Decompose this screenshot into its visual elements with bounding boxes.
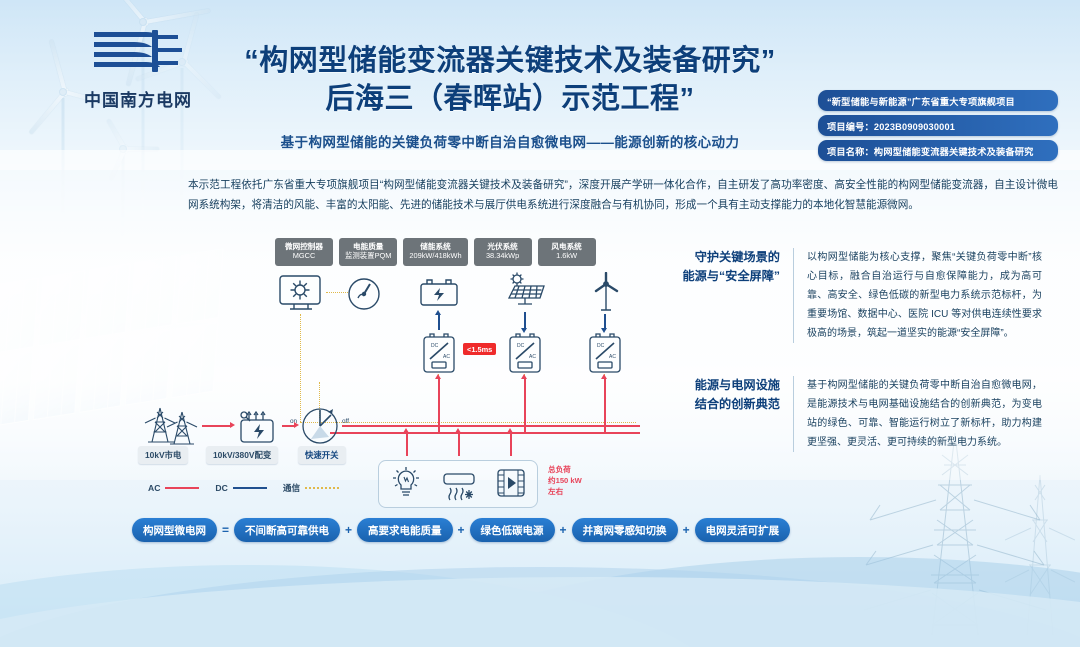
poster-title: “构网型储能变流器关键技术及装备研究” 后海三（春晖站）示范工程” 基于构网型储… xyxy=(190,42,830,151)
system-diagram: 微网控制器 MGCC 电能质量 监测装置PQM 储能系统 209kW/418kW… xyxy=(130,232,650,512)
ac-arrow-display xyxy=(507,428,513,433)
formula-equals: = xyxy=(222,523,229,537)
dc-link-storage xyxy=(438,314,440,330)
legend-item-ac: AC xyxy=(148,483,199,493)
legend-label-comm: 通信 xyxy=(283,482,300,494)
diagram-tab-wind: 风电系统 1.6kW xyxy=(538,238,596,266)
svg-text:DC: DC xyxy=(597,343,605,349)
formula-plus-4: + xyxy=(683,523,690,537)
highlight-block-safety: 守护关键场景的 能源与“安全屏障” 以构网型储能为核心支撑，聚焦“关键负荷零中断… xyxy=(662,248,1042,343)
comm-link-mgcc-pqm xyxy=(326,292,348,293)
lighting-load-icon xyxy=(388,466,424,502)
svg-text:AC: AC xyxy=(609,354,616,360)
highlight-heading-innovation: 能源与电网设施 结合的创新典范 xyxy=(662,376,794,452)
ac-riser-storage xyxy=(438,378,440,432)
battery-storage-icon xyxy=(418,276,460,308)
tab-title: 光伏系统 xyxy=(480,242,526,251)
background-wave xyxy=(0,565,734,647)
heading-line-2: 结合的创新典范 xyxy=(695,397,780,411)
tab-title: 风电系统 xyxy=(544,242,590,251)
grid-label: 10kV市电 xyxy=(138,446,188,464)
formula-term-1[interactable]: 不间断高可靠供电 xyxy=(234,518,340,542)
ac-arrow-wind xyxy=(601,374,607,379)
project-program-label: “新型储能与新能源”广东省重大专项旗舰项目 xyxy=(818,90,1058,111)
background-transmission-pylon-small xyxy=(1005,470,1075,640)
microgrid-controller-icon xyxy=(278,274,326,314)
air-conditioner-load-icon xyxy=(440,468,478,502)
transmission-tower-icon xyxy=(144,404,200,446)
solar-panel-icon xyxy=(504,272,548,308)
title-line-2: 后海三（春晖站）示范工程” xyxy=(190,80,830,118)
ac-arrow-lighting xyxy=(403,428,409,433)
formula-term-5[interactable]: 电网灵活可扩展 xyxy=(695,518,791,542)
poster-subtitle: 基于构网型储能的关键负荷零中断自治自愈微电网——能源创新的核心动力 xyxy=(190,131,830,151)
dc-ac-converter-icon: DC AC xyxy=(588,332,622,374)
legend-item-dc: DC xyxy=(215,483,266,493)
diagram-tab-pqm: 电能质量 监测装置PQM xyxy=(339,238,397,266)
load-note-line3: 左右 xyxy=(548,487,563,496)
wind-turbine-icon xyxy=(588,272,624,312)
legend-item-comm: 通信 xyxy=(283,482,339,494)
ac-arrow-pv xyxy=(521,374,527,379)
dc-arrow-pv xyxy=(521,328,527,333)
ac-arrow-1 xyxy=(230,422,235,428)
svg-text:AC: AC xyxy=(443,354,450,360)
diagram-tab-mgcc: 微网控制器 MGCC xyxy=(275,238,333,266)
diagram-legend: AC DC 通信 xyxy=(148,482,348,494)
highlight-body-innovation: 基于构网型储能的关键负荷零中断自治自愈微电网，是能源技术与电网基础设施结合的创新… xyxy=(794,376,1042,452)
ac-riser-pv xyxy=(524,378,526,432)
transformer-icon xyxy=(236,406,282,446)
svg-text:DC: DC xyxy=(431,343,439,349)
switching-time-badge: <1.5ms xyxy=(463,343,496,355)
heading-line-1: 能源与电网设施 xyxy=(695,378,780,392)
legend-swatch-comm xyxy=(305,487,339,489)
project-info-box: “新型储能与新能源”广东省重大专项旗舰项目 项目编号：2023B09090300… xyxy=(818,90,1058,165)
tab-value: 监测装置PQM xyxy=(345,251,391,260)
legend-swatch-ac xyxy=(165,487,199,490)
tab-title: 储能系统 xyxy=(409,242,461,251)
highlight-block-innovation: 能源与电网设施 结合的创新典范 基于构网型储能的关键负荷零中断自治自愈微电网，是… xyxy=(662,376,1042,452)
diagram-tab-storage: 储能系统 209kW/418kWh xyxy=(403,238,467,266)
heading-line-1: 守护关键场景的 xyxy=(695,250,780,264)
tab-title: 微网控制器 xyxy=(281,242,327,251)
csg-logo-icon xyxy=(92,28,184,74)
legend-swatch-dc xyxy=(233,487,267,490)
tab-value: 38.34kWp xyxy=(480,251,526,260)
ac-arrow-2 xyxy=(294,422,299,428)
formula-plus-1: + xyxy=(345,523,352,537)
diagram-tab-row: 微网控制器 MGCC 电能质量 监测装置PQM 储能系统 209kW/418kW… xyxy=(275,238,596,266)
display-load-icon xyxy=(494,466,528,500)
diagram-tab-pv: 光伏系统 38.34kWp xyxy=(474,238,532,266)
svg-text:AC: AC xyxy=(529,354,536,360)
fast-switch-icon xyxy=(298,404,342,448)
legend-label-ac: AC xyxy=(148,483,160,493)
poster-canvas: 中国南方电网 “构网型储能变流器关键技术及装备研究” 后海三（春晖站）示范工程”… xyxy=(0,0,1080,647)
switch-off-label: off xyxy=(342,418,349,425)
formula-plus-2: + xyxy=(458,523,465,537)
title-line-1: “构网型储能变流器关键技术及装备研究” xyxy=(190,42,830,80)
ac-drop-hvac xyxy=(458,432,460,456)
ac-drop-display xyxy=(510,432,512,456)
dc-ac-converter-icon: DC AC xyxy=(422,332,456,374)
formula-term-3[interactable]: 绿色低碳电源 xyxy=(470,518,555,542)
legend-label-dc: DC xyxy=(215,483,227,493)
ac-line-grid-transformer xyxy=(202,425,232,427)
project-number-label: 项目编号：2023B0909030001 xyxy=(818,115,1058,136)
project-name-label: 项目名称：构网型储能变流器关键技术及装备研究 xyxy=(818,140,1058,161)
ac-line-switch-bus xyxy=(342,425,640,427)
dc-ac-converter-icon: DC AC xyxy=(508,332,542,374)
formula-plus-3: + xyxy=(560,523,567,537)
svg-text:DC: DC xyxy=(517,343,525,349)
tab-value: 1.6kW xyxy=(544,251,590,260)
intro-paragraph: 本示范工程依托广东省重大专项旗舰项目“构网型储能变流器关键技术及装备研究”，深度… xyxy=(188,176,1058,215)
total-load-note: 总负荷 约150 kW 左右 xyxy=(548,464,582,497)
heading-line-2: 能源与“安全屏障” xyxy=(683,269,781,283)
ac-bus xyxy=(330,432,640,434)
formula-result-pill[interactable]: 构网型微电网 xyxy=(132,518,217,542)
value-formula-bar: 构网型微电网 = 不间断高可靠供电 + 高要求电能质量 + 绿色低碳电源 + 并… xyxy=(132,518,822,542)
ac-arrow-hvac xyxy=(455,428,461,433)
load-note-line2: 约150 kW xyxy=(548,476,582,485)
transformer-label: 10kV/380V配变 xyxy=(206,446,278,464)
dc-arrow-wind xyxy=(601,328,607,333)
highlight-body-safety: 以构网型储能为核心支撑，聚焦“关键负荷零中断”核心目标，融合自治运行与自愈保障能… xyxy=(794,248,1042,343)
dc-arrow-storage xyxy=(435,310,441,315)
tab-value: 209kW/418kWh xyxy=(409,251,461,260)
highlight-heading-safety: 守护关键场景的 能源与“安全屏障” xyxy=(662,248,794,343)
load-note-line1: 总负荷 xyxy=(548,465,571,474)
ac-riser-wind xyxy=(604,378,606,432)
ac-arrow-storage xyxy=(435,374,441,379)
formula-term-4[interactable]: 并离网零感知切换 xyxy=(572,518,678,542)
tab-title: 电能质量 xyxy=(345,242,391,251)
ac-drop-lighting xyxy=(406,432,408,456)
fast-switch-label: 快速开关 xyxy=(298,446,346,464)
power-quality-meter-icon xyxy=(346,276,382,312)
comm-bus-horizontal xyxy=(300,422,636,423)
formula-term-2[interactable]: 高要求电能质量 xyxy=(357,518,453,542)
tab-value: MGCC xyxy=(281,251,327,260)
